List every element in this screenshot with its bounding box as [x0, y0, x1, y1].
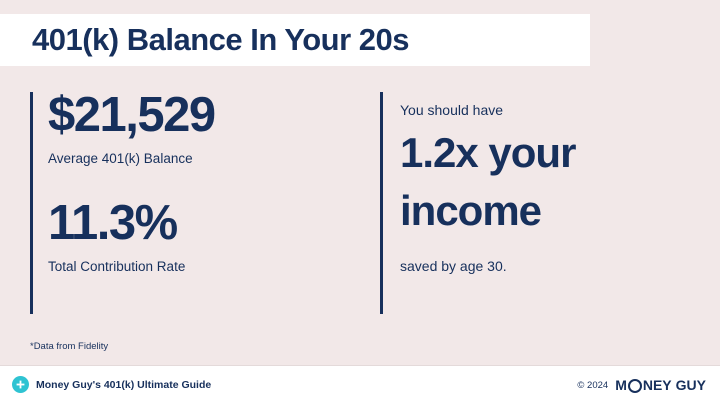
footer-logo-group: © 2024 M NEY GUY: [577, 377, 706, 393]
logo-text-part1: M: [615, 377, 627, 393]
plus-circle-icon: [12, 376, 29, 393]
logo-o-icon: [628, 379, 642, 393]
stat-block-balance: $21,529 Average 401(k) Balance: [48, 86, 358, 168]
contribution-rate-label: Total Contribution Rate: [48, 258, 358, 276]
logo-text-part3: GUY: [676, 377, 706, 393]
average-balance-label: Average 401(k) Balance: [48, 150, 358, 168]
recommendation-highlight-line2: income: [400, 186, 700, 236]
right-recommendation-column: You should have 1.2x your income saved b…: [400, 100, 700, 276]
logo-text-part2: NEY: [643, 377, 672, 393]
recommendation-highlight-line1: 1.2x your: [400, 128, 700, 178]
recommendation-trail: saved by age 30.: [400, 256, 700, 276]
moneyguy-logo: M NEY GUY: [615, 377, 706, 393]
data-source-footnote: *Data from Fidelity: [30, 341, 108, 352]
footer-brand-text: Money Guy's 401(k) Ultimate Guide: [36, 379, 211, 391]
footer-bar: Money Guy's 401(k) Ultimate Guide © 2024…: [0, 365, 720, 404]
infographic-card: 401(k) Balance In Your 20s $21,529 Avera…: [0, 0, 720, 404]
page-title: 401(k) Balance In Your 20s: [32, 20, 409, 60]
copyright-text: © 2024: [577, 380, 608, 391]
left-column-rule: [30, 92, 33, 314]
contribution-rate-value: 11.3%: [48, 194, 358, 252]
stat-block-contribution: 11.3% Total Contribution Rate: [48, 194, 358, 276]
left-stats-column: $21,529 Average 401(k) Balance 11.3% Tot…: [48, 86, 358, 276]
right-column-rule: [380, 92, 383, 314]
average-balance-value: $21,529: [48, 86, 358, 144]
recommendation-lead: You should have: [400, 100, 700, 120]
footer-brand-group[interactable]: Money Guy's 401(k) Ultimate Guide: [12, 376, 211, 393]
